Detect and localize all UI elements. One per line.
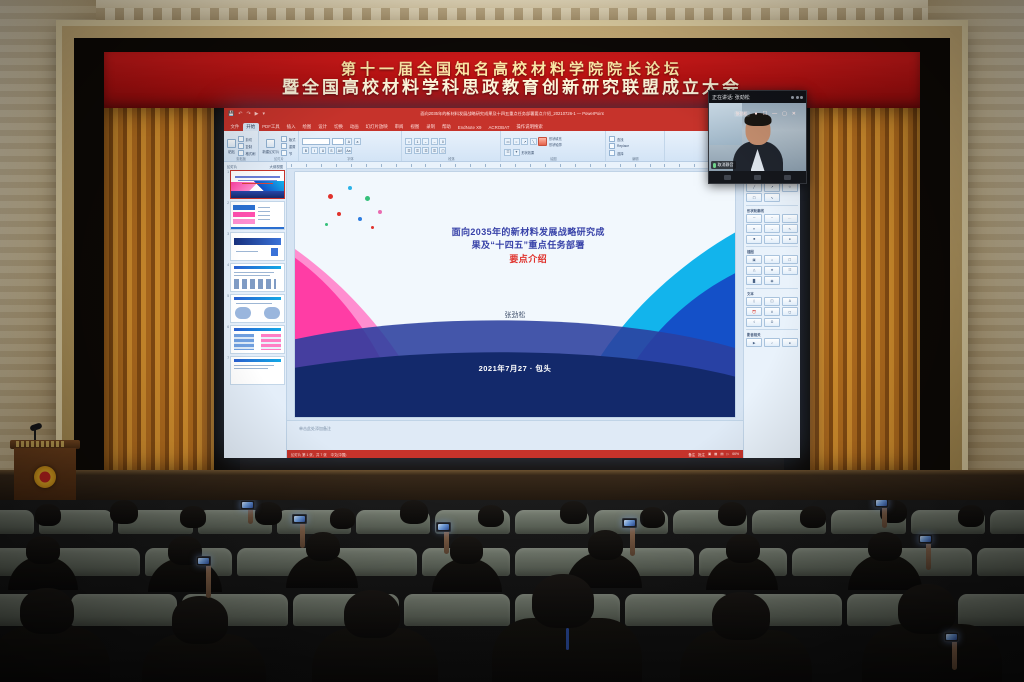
- decrease-indent-button[interactable]: ←: [422, 138, 429, 145]
- thumb-text-line: [234, 272, 274, 273]
- columns-button[interactable]: ◫: [439, 147, 446, 154]
- 3d-model-icon[interactable]: ◉: [764, 276, 780, 285]
- status-bar: 幻灯片 第 1 张，共 7 张 中文(中国) 备注 批注 ▣ ▦ ▤ ▷ 66%: [287, 450, 743, 458]
- thumbnail-slide-1[interactable]: 1: [225, 170, 285, 199]
- font-name-input[interactable]: [302, 138, 330, 145]
- avatar[interactable]: ●: [755, 111, 758, 117]
- chart-icon[interactable]: ▉: [746, 276, 762, 285]
- ruler-tick: [500, 164, 515, 167]
- shape-outline-label[interactable]: 形状轮廓: [549, 142, 562, 147]
- symbol-icon[interactable]: Ω: [764, 318, 780, 327]
- line-arrow-icon[interactable]: →: [764, 224, 780, 233]
- thumb-big-char: [271, 248, 278, 256]
- audience-phone: [622, 518, 637, 528]
- line-spacing-button[interactable]: ⇕: [439, 138, 446, 145]
- shape-fill-label[interactable]: 形状填充: [549, 136, 562, 141]
- arrange-button[interactable]: ☷: [504, 149, 511, 156]
- ribbon-group-editing: 查找 Replace 选择 编辑: [606, 131, 665, 161]
- shape-callout-icon[interactable]: ☐: [746, 193, 762, 202]
- pane-section-title: 插图: [747, 249, 798, 254]
- phone-screen: [624, 520, 635, 526]
- tab-transitions[interactable]: 切换: [331, 123, 347, 132]
- current-slide[interactable]: 面向2035年的新材料发展战略研究成 果及“十四五”重点任务部署 要点介绍 张劲…: [295, 172, 735, 417]
- thumbnail-slide-5[interactable]: 5: [225, 294, 285, 323]
- slide-thumbnail-pane[interactable]: 幻灯片 大纲视图 1: [224, 162, 287, 458]
- align-left-button[interactable]: ☰: [405, 147, 412, 154]
- slide-date-place[interactable]: 2021年7月27 · 包头: [295, 363, 735, 374]
- banner-line-1: 第十一届全国知名高校材料学院院长论坛: [341, 61, 683, 78]
- thumbnail-number: 5: [225, 294, 229, 298]
- pane-section-title: 文本: [747, 291, 798, 296]
- cut-button[interactable]: 剪切: [238, 136, 255, 142]
- pane-divider: [746, 246, 798, 247]
- ruler-tick: [396, 164, 411, 167]
- layout-button[interactable]: 版式: [281, 136, 295, 142]
- new-slide-icon: [266, 139, 275, 148]
- ruler-tick: [605, 164, 620, 167]
- thumb-title-line: [235, 176, 280, 178]
- thumb-diagram: [235, 307, 251, 319]
- line-dashed-icon[interactable]: ┄: [764, 214, 780, 223]
- ruler-tick: [291, 164, 306, 167]
- thumbnail-slide-6[interactable]: 6: [225, 325, 285, 354]
- line-dotted-icon[interactable]: …: [782, 214, 798, 223]
- thumb-text-line: [236, 251, 258, 252]
- ruler-tick: [470, 164, 485, 167]
- mic-icon: [713, 163, 716, 168]
- group-label-slides: 幻灯片: [259, 156, 298, 161]
- raised-arm: [630, 526, 635, 556]
- thumb-text-line: [234, 365, 274, 366]
- tab-help[interactable]: 帮助: [439, 123, 455, 132]
- thumb-header-band: [234, 297, 281, 300]
- leave-icon[interactable]: [784, 175, 791, 180]
- decrease-font-size-button[interactable]: a: [354, 138, 361, 145]
- audio-icon[interactable]: ♪: [764, 338, 780, 347]
- ruler-tick: [679, 164, 694, 167]
- ribbon-group-clipboard: 粘贴 剪切 复制: [224, 131, 259, 161]
- raised-arm: [206, 564, 211, 598]
- ruler-tick: [530, 164, 545, 167]
- pane-section-title: 形状轮廓线: [747, 208, 798, 213]
- seat: [0, 510, 34, 534]
- pane-icon-grid[interactable]: ▯ ◫ A ⏰ # ◻ √ Ω: [746, 297, 798, 327]
- audience-head: [800, 506, 826, 528]
- tab-pdf-tools[interactable]: PDF工具: [259, 123, 284, 132]
- italic-button[interactable]: I: [311, 147, 318, 154]
- thumbnail-pane-title: 幻灯片: [227, 164, 237, 169]
- thumb-subtitle-line: [242, 183, 273, 184]
- align-right-button[interactable]: ☰: [422, 147, 429, 154]
- reset-label: 重置: [289, 144, 296, 149]
- wordart-icon[interactable]: A: [782, 297, 798, 306]
- tab-review[interactable]: 审阅: [391, 123, 407, 132]
- quick-styles-icon[interactable]: [538, 137, 547, 146]
- underline-button[interactable]: U: [319, 147, 326, 154]
- thumb-text-line: [258, 211, 270, 212]
- thumb-text-line: [258, 219, 270, 220]
- change-case-button[interactable]: Aa: [345, 147, 352, 154]
- thumb-header-band: [234, 266, 281, 269]
- audience-head: [306, 532, 340, 561]
- stage-curtain-right: [810, 108, 920, 470]
- tell-me-search[interactable]: 操作说明搜索: [513, 123, 546, 132]
- cut-icon: [238, 136, 244, 142]
- audience-phone: [436, 522, 451, 532]
- seat: [71, 594, 177, 626]
- minimize-button[interactable]: —: [772, 111, 777, 117]
- ruler-tick: [694, 164, 709, 167]
- pane-section-title: 影音相关: [747, 332, 798, 337]
- thumb-block: [233, 212, 255, 217]
- paste-label: 粘贴: [228, 149, 235, 154]
- replace-label: Replace: [617, 144, 629, 148]
- line-weight-icon[interactable]: ≡: [746, 224, 762, 233]
- thumbnail-number: 2: [225, 201, 229, 205]
- phone-screen: [242, 502, 253, 508]
- seat: [990, 510, 1024, 534]
- ruler-tick: [545, 164, 560, 167]
- national-emblem-icon: [34, 466, 56, 488]
- select-label: 选择: [617, 151, 624, 156]
- audience-head: [898, 584, 956, 634]
- thumbnail-slide-3[interactable]: 3: [225, 232, 285, 261]
- slide-sorter-icon[interactable]: ▦: [714, 452, 717, 456]
- thumb-text-line: [234, 275, 270, 276]
- shape-freeform-icon[interactable]: ∿: [764, 193, 780, 202]
- language-indicator[interactable]: 中文(中国): [331, 452, 347, 457]
- thumb-icon-grid: [234, 279, 276, 289]
- tab-endnote[interactable]: EndNote X9: [454, 124, 485, 132]
- audience-head: [450, 536, 483, 564]
- thumbnail-number: 1: [225, 170, 229, 174]
- replace-button[interactable]: Replace: [609, 143, 661, 149]
- group-label-editing: 编辑: [606, 156, 664, 161]
- thumbnail-slide-4[interactable]: 4: [225, 263, 285, 292]
- thumb-wave-navy: [231, 191, 284, 198]
- slide-editing-canvas[interactable]: 面向2035年的新材料发展战略研究成 果及“十四五”重点任务部署 要点介绍 张劲…: [287, 162, 743, 458]
- shape-effects-label[interactable]: 形状效果: [521, 150, 534, 155]
- thumbnail-preview: [230, 201, 285, 230]
- tab-home[interactable]: 开始: [243, 123, 259, 132]
- reading-view-icon[interactable]: ▤: [720, 452, 723, 456]
- slide-title-line-2: 果及“十四五”重点任务部署: [357, 239, 700, 253]
- audience-head: [726, 534, 760, 563]
- stage-curtain-left: [104, 108, 214, 470]
- thumb-footer: [231, 227, 284, 229]
- shape-effects-button[interactable]: ✦: [513, 149, 520, 156]
- status-bar-right[interactable]: 备注 批注 ▣ ▦ ▤ ▷ 66%: [688, 452, 739, 457]
- phone-screen: [198, 558, 209, 564]
- audience-head: [330, 508, 355, 529]
- format-side-pane[interactable]: 形状 ▭ ○ △ ╱ ↗ ☆ ☐ ∿ 形状轮廓线: [743, 162, 800, 458]
- horizontal-ruler: [287, 162, 743, 169]
- thumbnail-number: 6: [225, 325, 229, 329]
- tab-animations[interactable]: 动画: [346, 123, 362, 132]
- pane-icon-grid[interactable]: ─ ┄ … ≡ → ∿ ■ ∟ ●: [746, 214, 798, 244]
- ruler-tick: [590, 164, 605, 167]
- audience-head: [172, 596, 228, 644]
- shapes-icon[interactable]: △: [746, 266, 762, 275]
- ruler-tick: [485, 164, 500, 167]
- audience-head: [344, 590, 400, 638]
- tab-design[interactable]: 设计: [315, 123, 331, 132]
- camera-icon[interactable]: [724, 175, 731, 180]
- increase-font-size-button[interactable]: A: [345, 138, 352, 145]
- copy-button[interactable]: 复制: [238, 143, 255, 149]
- thumb-text-line: [258, 207, 270, 208]
- maximize-button[interactable]: ▢: [782, 111, 787, 117]
- raised-arm: [300, 522, 305, 548]
- online-picture-icon[interactable]: ☼: [764, 255, 780, 264]
- screenshot-icon[interactable]: ☐: [782, 255, 798, 264]
- outline-view-link[interactable]: 大纲视图: [269, 164, 283, 169]
- phone-screen: [876, 500, 887, 506]
- icons-icon[interactable]: ★: [764, 266, 780, 275]
- raised-arm: [952, 640, 957, 670]
- justify-button[interactable]: ☰: [431, 147, 438, 154]
- phone-screen: [946, 634, 957, 640]
- layout-icon: [281, 136, 287, 142]
- ruler-tick: [336, 164, 351, 167]
- shape-oval-icon[interactable]: ○: [513, 138, 520, 145]
- thumb-text-line: [258, 215, 270, 216]
- ruler-tick: [560, 164, 575, 167]
- find-label: 查找: [617, 137, 624, 142]
- pane-icon-grid[interactable]: ▶ ♪ ●: [746, 338, 798, 347]
- reset-icon: [281, 143, 287, 149]
- ruler-tick: [620, 164, 635, 167]
- thumb-block: [233, 205, 255, 210]
- thumbnail-slide-7[interactable]: 7: [225, 356, 285, 385]
- thumbnail-preview: [230, 263, 285, 292]
- audience-head: [640, 507, 665, 528]
- audience-head: [588, 530, 623, 560]
- thumbnail-preview: [230, 170, 285, 199]
- slideshow-icon[interactable]: ▷: [727, 452, 730, 456]
- ruler-tick: [381, 164, 396, 167]
- tab-slideshow[interactable]: 幻灯片放映: [362, 123, 391, 132]
- date-time-icon[interactable]: ⏰: [746, 307, 762, 316]
- thumb-header-band: [234, 238, 281, 245]
- audience-phone: [918, 534, 933, 544]
- normal-view-icon[interactable]: ▣: [708, 452, 711, 456]
- seat: [977, 548, 1024, 576]
- strikethrough-button[interactable]: S: [328, 147, 335, 154]
- ribbon-group-paragraph: • 1 ← → ⇕ ☰ ☰ ☰ ☰ ◫ 段落: [402, 131, 501, 161]
- slide-indicator: 幻灯片 第 1 张，共 7 张: [291, 452, 327, 457]
- audience-head: [26, 536, 60, 564]
- line-curve-icon[interactable]: ∿: [782, 224, 798, 233]
- seat: [404, 594, 510, 626]
- ruler-tick: [351, 164, 366, 167]
- audience-shoulders: [0, 626, 110, 682]
- audience-lanyard: [566, 628, 569, 650]
- tab-draw[interactable]: 绘图: [299, 123, 315, 132]
- object-icon[interactable]: ◻: [782, 307, 798, 316]
- phone-screen: [438, 524, 449, 530]
- account-name[interactable]: 张劲松: [734, 111, 750, 117]
- audience-head: [478, 505, 504, 527]
- ruler-tick: [321, 164, 336, 167]
- stage-opening: 第十一届全国知名高校材料学院院长论坛 暨全国高校材料学科思政教育创新研究联盟成立…: [104, 52, 920, 470]
- thumbnail-number: 7: [225, 356, 229, 360]
- raised-arm: [444, 530, 449, 554]
- tab-insert[interactable]: 插入: [283, 123, 299, 132]
- ribbon-group-slides: 新建幻灯片 版式 重置: [259, 131, 299, 161]
- video-icon[interactable]: ▶: [746, 338, 762, 347]
- pane-divider: [746, 329, 798, 330]
- audience-phone: [874, 500, 889, 508]
- thumbnail-preview: [230, 294, 285, 323]
- video-conference-toolbar[interactable]: [709, 171, 806, 183]
- increase-indent-button[interactable]: →: [431, 138, 438, 145]
- audience-area: [0, 500, 1024, 682]
- slide-subtitle: 要点介绍: [357, 253, 700, 267]
- ruler-tick: [635, 164, 650, 167]
- bullets-button[interactable]: •: [405, 138, 412, 145]
- comments-button[interactable]: 批注: [698, 452, 705, 457]
- ruler-tick: [664, 164, 679, 167]
- group-label-paragraph: 段落: [402, 156, 500, 161]
- ribbon-group-drawing: ▭ ○ ↗ ╲ 形状填充 形状轮廓 ☷ ✦: [501, 131, 606, 161]
- ruler-tick: [306, 164, 321, 167]
- ruler-tick: [440, 164, 455, 167]
- numbering-button[interactable]: 1: [414, 138, 421, 145]
- audience-head: [868, 532, 902, 561]
- window-controls[interactable]: 张劲松 ● ☐ — ▢ ✕: [734, 111, 796, 117]
- seat-row: [0, 594, 1024, 626]
- copy-label: 复制: [246, 144, 253, 149]
- thumb-image-grid: [234, 334, 254, 350]
- ruler-tick: [366, 164, 381, 167]
- picture-icon[interactable]: ▣: [746, 255, 762, 264]
- audience-phone: [944, 632, 959, 642]
- thumbnail-preview: [230, 232, 285, 261]
- slide-author[interactable]: 张劲松: [295, 310, 735, 320]
- thumb-diagram: [264, 307, 280, 319]
- audience-head: [958, 505, 984, 527]
- thumbnail-number: 3: [225, 232, 229, 236]
- pane-divider: [746, 288, 798, 289]
- ruler-tick: [575, 164, 590, 167]
- phone-screen: [294, 516, 305, 522]
- thumb-block: [233, 219, 255, 224]
- notes-pane[interactable]: 单击此处添加备注: [287, 420, 743, 450]
- reset-button[interactable]: 重置: [281, 143, 295, 149]
- ribbon-display-options-icon[interactable]: ☐: [763, 111, 767, 117]
- replace-icon: [609, 143, 615, 149]
- line-color-icon[interactable]: ■: [746, 235, 762, 244]
- character-spacing-button[interactable]: AV: [336, 147, 343, 154]
- ruler-tick: [411, 164, 426, 167]
- auditorium-scene: 第十一届全国知名高校材料学院院长论坛 暨全国高校材料学科思政教育创新研究联盟成立…: [0, 0, 1024, 682]
- audience-phone: [292, 514, 307, 524]
- slide-number-icon[interactable]: #: [764, 307, 780, 316]
- thumbnail-preview: [230, 356, 285, 385]
- audience-head: [20, 588, 74, 634]
- active-speaker-label: 正在讲话: 张劲松: [712, 94, 750, 101]
- mic-status-label: 取消静音: [718, 162, 734, 168]
- slide-title-line-1: 面向2035年的新材料发展战略研究成: [357, 226, 700, 240]
- align-center-button[interactable]: ☰: [414, 147, 421, 154]
- zoom-level[interactable]: 66%: [732, 452, 739, 456]
- audience-head: [35, 504, 61, 526]
- screen-record-icon[interactable]: ●: [782, 338, 798, 347]
- speaker-figure: [732, 113, 784, 171]
- raised-arm: [926, 542, 931, 570]
- group-label-clipboard: 剪贴板: [224, 156, 258, 161]
- shape-rect-icon[interactable]: ▭: [504, 138, 511, 145]
- thumb-title-line2: [238, 180, 277, 181]
- mic-status-badge[interactable]: 取消静音: [711, 161, 736, 169]
- new-slide-button[interactable]: 新建幻灯片: [262, 139, 279, 154]
- textbox-icon[interactable]: ▯: [746, 297, 762, 306]
- ruler-tick: [515, 164, 530, 167]
- video-conference-header: 正在讲话: 张劲松: [709, 91, 806, 103]
- tab-record[interactable]: 录制: [423, 123, 439, 132]
- thumbnail-preview: [230, 325, 285, 354]
- tab-view[interactable]: 视图: [407, 123, 423, 132]
- header-footer-icon[interactable]: ◫: [764, 297, 780, 306]
- video-conference-window[interactable]: 正在讲话: 张劲松 取消静音: [708, 90, 807, 184]
- seat: [958, 594, 1024, 626]
- section-label: 节: [289, 151, 292, 156]
- phone-screen: [920, 536, 931, 542]
- paste-button[interactable]: 粘贴: [227, 139, 236, 154]
- audience-head: [110, 500, 138, 524]
- slide-wave-artwork: [295, 172, 735, 417]
- bold-button[interactable]: B: [302, 147, 309, 154]
- banner-line-2: 暨全国高校材料学科思政教育创新研究联盟成立大会: [282, 78, 742, 98]
- shape-line-icon[interactable]: ╲: [530, 138, 537, 145]
- tab-file[interactable]: 文件: [227, 123, 243, 132]
- audience-head: [400, 500, 428, 524]
- audience-head: [255, 502, 282, 525]
- slide-title[interactable]: 面向2035年的新材料发展战略研究成 果及“十四五”重点任务部署 要点介绍: [357, 226, 700, 267]
- line-cap-icon[interactable]: ●: [782, 235, 798, 244]
- font-size-input[interactable]: [332, 138, 344, 145]
- equation-icon[interactable]: √: [746, 318, 762, 327]
- audience-phone: [240, 500, 255, 510]
- thumb-text-line: [236, 303, 272, 304]
- stage-edge: [0, 470, 1024, 475]
- thumbnail-slide-2[interactable]: 2: [225, 201, 285, 230]
- group-label-drawing: 绘图: [501, 156, 605, 161]
- audience-head: [718, 502, 746, 526]
- ruler-tick: [455, 164, 470, 167]
- close-button[interactable]: ✕: [792, 111, 796, 117]
- audience-head: [532, 574, 594, 628]
- layout-label: 版式: [289, 137, 296, 142]
- tab-acrobat[interactable]: ACROBAT: [485, 124, 513, 132]
- shape-arrow-icon[interactable]: ↗: [521, 138, 528, 145]
- find-icon: [609, 136, 615, 142]
- smartart-icon[interactable]: ☷: [782, 266, 798, 275]
- slide-viewport: 面向2035年的新材料发展战略研究成 果及“十四五”重点任务部署 要点介绍 张劲…: [287, 169, 743, 420]
- notes-toggle-button[interactable]: 备注: [688, 452, 695, 457]
- line-solid-icon[interactable]: ─: [746, 214, 762, 223]
- ppt-body: 幻灯片 大纲视图 1: [224, 162, 800, 458]
- pane-icon-grid[interactable]: ▣ ☼ ☐ △ ★ ☷ ▉ ◉: [746, 255, 798, 285]
- thumb-image-grid: [261, 334, 281, 350]
- find-button[interactable]: 查找: [609, 136, 661, 142]
- audience-head: [560, 501, 587, 524]
- mic-icon[interactable]: [754, 175, 761, 180]
- new-slide-label: 新建幻灯片: [262, 149, 279, 154]
- line-join-icon[interactable]: ∟: [764, 235, 780, 244]
- more-dots-icon[interactable]: [791, 96, 803, 99]
